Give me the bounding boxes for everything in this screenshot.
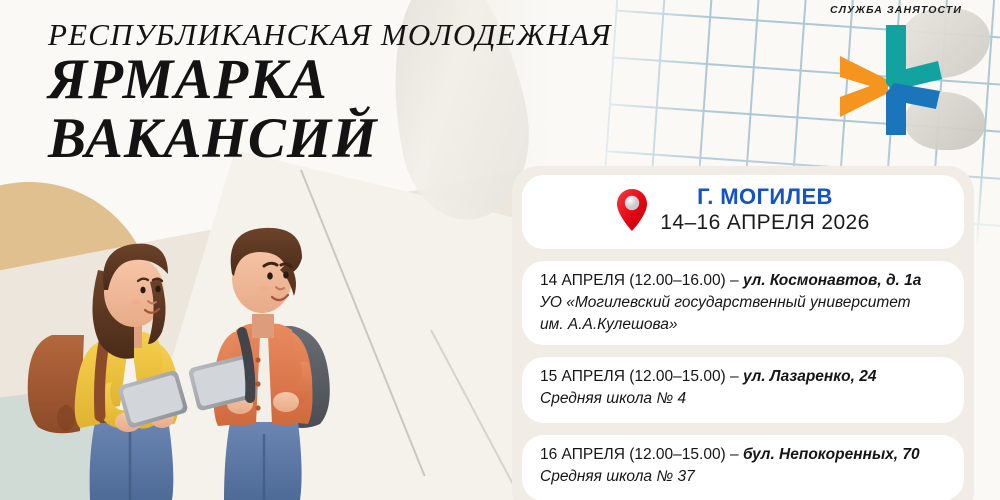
panel-header-card: Г. МОГИЛЕВ 14–16 АПРЕЛЯ 2026 xyxy=(522,175,964,249)
event-1-headline: 14 АПРЕЛЯ (12.00–16.00) – ул. Космонавто… xyxy=(540,270,946,292)
event-3-dash: – xyxy=(726,446,743,463)
info-panel: Г. МОГИЛЕВ 14–16 АПРЕЛЯ 2026 14 АПРЕЛЯ (… xyxy=(512,166,974,500)
city-label: Г. МОГИЛЕВ xyxy=(660,184,869,210)
brand-caption: СЛУЖБА ЗАНЯТОСТИ xyxy=(806,4,986,16)
headline-line-2: ЯРМАРКА xyxy=(48,51,628,109)
event-2-headline: 15 АПРЕЛЯ (12.00–15.00) – ул. Лазаренко,… xyxy=(540,366,946,388)
dates-label: 14–16 АПРЕЛЯ 2026 xyxy=(660,210,869,235)
event-2-when: 15 АПРЕЛЯ (12.00–15.00) xyxy=(540,368,726,385)
event-2-dash: – xyxy=(726,368,743,385)
event-1-when: 14 АПРЕЛЯ (12.00–16.00) xyxy=(540,272,726,289)
event-2-address: ул. Лазаренко, 24 xyxy=(743,368,877,385)
event-1-address: ул. Космонавтов, д. 1а xyxy=(743,272,921,289)
map-pin-icon xyxy=(616,188,648,232)
poster-headline: РЕСПУБЛИКАНСКАЯ МОЛОДЕЖНАЯ ЯРМАРКА ВАКАН… xyxy=(48,18,628,168)
event-3-address: бул. Непокоренных, 70 xyxy=(743,446,920,463)
employment-service-logo-icon xyxy=(836,19,956,137)
event-3-headline: 16 АПРЕЛЯ (12.00–15.00) – бул. Непокорен… xyxy=(540,444,946,466)
event-3-venue-line-1: Средняя школа № 37 xyxy=(540,466,946,488)
event-3-when: 16 АПРЕЛЯ (12.00–15.00) xyxy=(540,446,726,463)
event-card-2: 15 АПРЕЛЯ (12.00–15.00) – ул. Лазаренко,… xyxy=(522,357,964,423)
event-1-dash: – xyxy=(726,272,743,289)
event-card-1: 14 АПРЕЛЯ (12.00–16.00) – ул. Космонавто… xyxy=(522,261,964,345)
brand-block: СЛУЖБА ЗАНЯТОСТИ xyxy=(806,4,986,137)
headline-line-1: РЕСПУБЛИКАНСКАЯ МОЛОДЕЖНАЯ xyxy=(48,18,628,51)
event-card-3: 16 АПРЕЛЯ (12.00–15.00) – бул. Непокорен… xyxy=(522,435,964,500)
poster-canvas: РЕСПУБЛИКАНСКАЯ МОЛОДЕЖНАЯ ЯРМАРКА ВАКАН… xyxy=(0,0,1000,500)
event-2-venue-line-1: Средняя школа № 4 xyxy=(540,388,946,410)
event-1-venue-line-1: УО «Могилевский государственный универси… xyxy=(540,292,946,314)
event-1-venue-line-2: им. А.А.Кулешова» xyxy=(540,314,946,336)
students-illustration xyxy=(0,150,470,500)
